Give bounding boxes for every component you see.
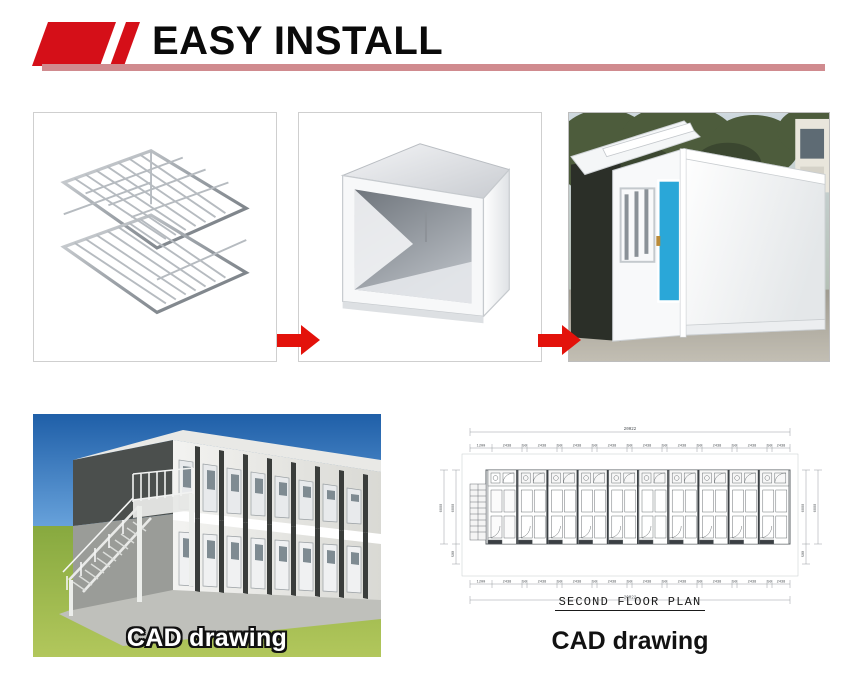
svg-text:2438: 2438 <box>678 445 687 449</box>
svg-text:50: 50 <box>732 445 736 449</box>
arrow-step-2-to-3 <box>538 325 582 355</box>
svg-text:500: 500 <box>452 551 456 557</box>
svg-text:50: 50 <box>592 445 596 449</box>
svg-text:6000: 6000 <box>814 504 818 513</box>
svg-text:50: 50 <box>662 445 666 449</box>
finished-house-photo <box>569 113 829 361</box>
render-caption: CAD drawing <box>33 624 381 653</box>
container-camp-render: CAD drawing <box>33 414 381 657</box>
floor-plan-svg: 20022 <box>430 418 830 618</box>
svg-text:50: 50 <box>732 581 736 585</box>
step-3-panel <box>568 112 830 362</box>
svg-text:2438: 2438 <box>503 445 512 449</box>
install-steps-row <box>0 112 865 362</box>
svg-text:50: 50 <box>557 581 561 585</box>
svg-text:2438: 2438 <box>608 581 617 585</box>
arrow-shaft <box>277 334 303 347</box>
svg-text:2438: 2438 <box>777 445 786 449</box>
svg-text:1200: 1200 <box>477 581 486 585</box>
plan-title: SECOND FLOOR PLAN <box>430 595 830 609</box>
svg-text:2438: 2438 <box>713 581 722 585</box>
svg-text:2438: 2438 <box>643 581 652 585</box>
svg-text:2438: 2438 <box>748 581 757 585</box>
dim-overall-top: 20022 <box>624 428 637 432</box>
svg-text:2438: 2438 <box>573 581 582 585</box>
svg-text:50: 50 <box>697 581 701 585</box>
svg-text:50: 50 <box>627 445 631 449</box>
logo-slash-shape <box>110 22 140 66</box>
two-story-container-building-render <box>33 414 381 657</box>
slide-root: EASY INSTALL <box>0 0 865 673</box>
svg-text:50: 50 <box>557 445 561 449</box>
svg-text:2438: 2438 <box>503 581 512 585</box>
svg-text:2438: 2438 <box>748 445 757 449</box>
svg-text:2438: 2438 <box>573 445 582 449</box>
svg-text:1200: 1200 <box>477 445 486 449</box>
svg-text:2438: 2438 <box>643 445 652 449</box>
steel-frame-illustration <box>34 113 276 361</box>
svg-text:6000: 6000 <box>452 504 456 513</box>
arrow-head <box>301 325 320 355</box>
svg-text:50: 50 <box>627 581 631 585</box>
svg-text:2438: 2438 <box>608 445 617 449</box>
svg-text:2438: 2438 <box>777 581 786 585</box>
logo-slab-shape <box>32 22 116 66</box>
red-slash-logo <box>40 22 144 66</box>
svg-text:50: 50 <box>522 445 526 449</box>
svg-text:50: 50 <box>767 581 771 585</box>
svg-text:500: 500 <box>802 551 806 557</box>
svg-text:50: 50 <box>767 445 771 449</box>
page-header: EASY INSTALL <box>0 0 865 92</box>
page-title: EASY INSTALL <box>152 16 443 66</box>
arrow-shaft <box>538 334 564 347</box>
svg-text:50: 50 <box>662 581 666 585</box>
step-1-panel <box>33 112 277 362</box>
svg-text:6000: 6000 <box>440 504 444 513</box>
svg-text:50: 50 <box>592 581 596 585</box>
svg-text:2438: 2438 <box>678 581 687 585</box>
arrow-step-1-to-2 <box>277 325 321 355</box>
svg-text:50: 50 <box>697 445 701 449</box>
arrow-head <box>562 325 581 355</box>
header-divider <box>42 64 825 71</box>
svg-text:2438: 2438 <box>713 445 722 449</box>
svg-text:50: 50 <box>522 581 526 585</box>
svg-text:2438: 2438 <box>538 581 547 585</box>
container-shell-illustration <box>299 113 541 361</box>
svg-text:2438: 2438 <box>538 445 547 449</box>
svg-text:6000: 6000 <box>802 504 806 513</box>
step-2-panel <box>298 112 542 362</box>
plan-caption: CAD drawing <box>430 627 830 656</box>
second-floor-plan-drawing: 20022 <box>430 418 830 618</box>
